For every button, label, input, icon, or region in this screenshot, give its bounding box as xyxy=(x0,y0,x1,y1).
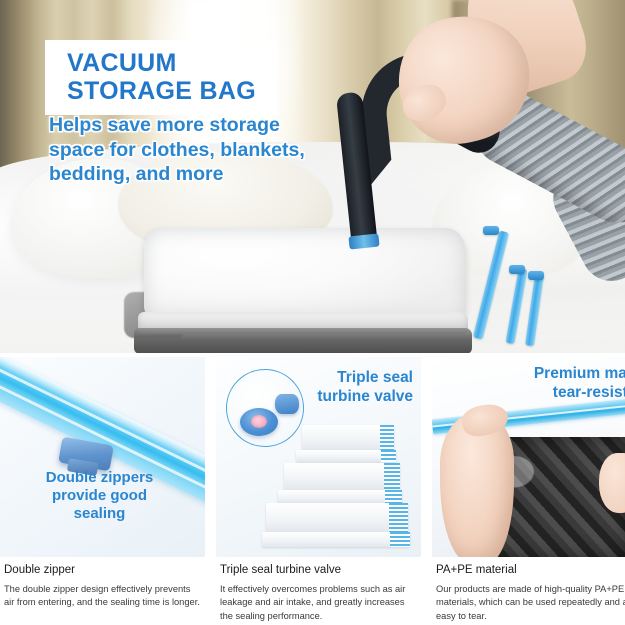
panel2-overlay-line-1: Triple seal xyxy=(317,369,413,388)
bag-stack-illustration xyxy=(262,423,412,553)
hero-title-band: VACUUM STORAGE BAG xyxy=(45,40,278,115)
vacuum-bag-top xyxy=(144,228,466,320)
panel1-caption: Double zipper The double zipper design e… xyxy=(4,563,203,610)
panel2-caption-title: Triple seal turbine valve xyxy=(220,563,419,578)
stack-slab-5 xyxy=(266,503,408,533)
panel2-caption: Triple seal turbine valve It effectively… xyxy=(220,563,419,623)
feature-image-double-zipper: Double zippers provide good sealing xyxy=(0,357,205,557)
vacuum-bag-stack xyxy=(138,228,483,352)
hero-banner: VACUUM STORAGE BAG Helps save more stora… xyxy=(0,0,625,353)
panel3-overlay-line-1: Premium materi xyxy=(454,365,625,384)
feature-image-pa-pe-material: Premium materi tear-resistant xyxy=(432,357,625,557)
hero-title-line-2: STORAGE BAG xyxy=(67,77,256,105)
panel1-caption-title: Double zipper xyxy=(4,563,203,578)
panel1-overlay-line-2: provide good xyxy=(0,487,199,505)
panel3-overlay-line-2: tear-resistant xyxy=(454,384,625,403)
product-marketing-page: VACUUM STORAGE BAG Helps save more stora… xyxy=(0,0,625,625)
feature-image-turbine-valve: Triple seal turbine valve xyxy=(216,357,421,557)
stack-slab-2 xyxy=(296,450,396,462)
panel2-overlay-line-2: turbine valve xyxy=(317,388,413,407)
feature-panel-pa-pe-material: Premium materi tear-resistant PA+PE mate… xyxy=(432,357,625,625)
stack-slab-1 xyxy=(302,425,394,451)
vacuum-bag-bottom xyxy=(134,328,472,353)
feature-panels: Double zippers provide good sealing Doub… xyxy=(0,357,625,625)
stack-slab-6 xyxy=(262,532,410,547)
panel1-caption-body: The double zipper design effectively pre… xyxy=(4,583,203,610)
panel1-overlay-line-1: Double zippers xyxy=(0,469,199,487)
panel1-overlay-text: Double zippers provide good sealing xyxy=(0,469,199,523)
valve-cap-icon xyxy=(275,394,299,414)
panel3-caption-body: Our products are made of high-quality PA… xyxy=(436,583,625,623)
stack-slab-4 xyxy=(278,490,402,503)
panel3-caption-title: PA+PE material xyxy=(436,563,625,578)
hero-subtitle: Helps save more storage space for clothe… xyxy=(49,113,339,187)
panel3-caption: PA+PE material Our products are made of … xyxy=(436,563,625,623)
panel2-caption-body: It effectively overcomes problems such a… xyxy=(220,583,419,623)
panel1-overlay-line-3: sealing xyxy=(0,505,199,523)
stack-slab-3 xyxy=(284,463,400,491)
panel2-overlay-text: Triple seal turbine valve xyxy=(317,369,413,406)
bag-zipper-knob-3 xyxy=(528,271,544,280)
panel3-overlay-text: Premium materi tear-resistant xyxy=(454,365,625,402)
bag-zipper-knob-2 xyxy=(509,265,525,274)
hero-title-line-1: VACUUM xyxy=(67,49,256,77)
feature-panel-turbine-valve: Triple seal turbine valve Triple seal tu… xyxy=(216,357,421,625)
feature-panel-double-zipper: Double zippers provide good sealing Doub… xyxy=(0,357,205,625)
bag-zipper-knob-1 xyxy=(483,226,499,235)
